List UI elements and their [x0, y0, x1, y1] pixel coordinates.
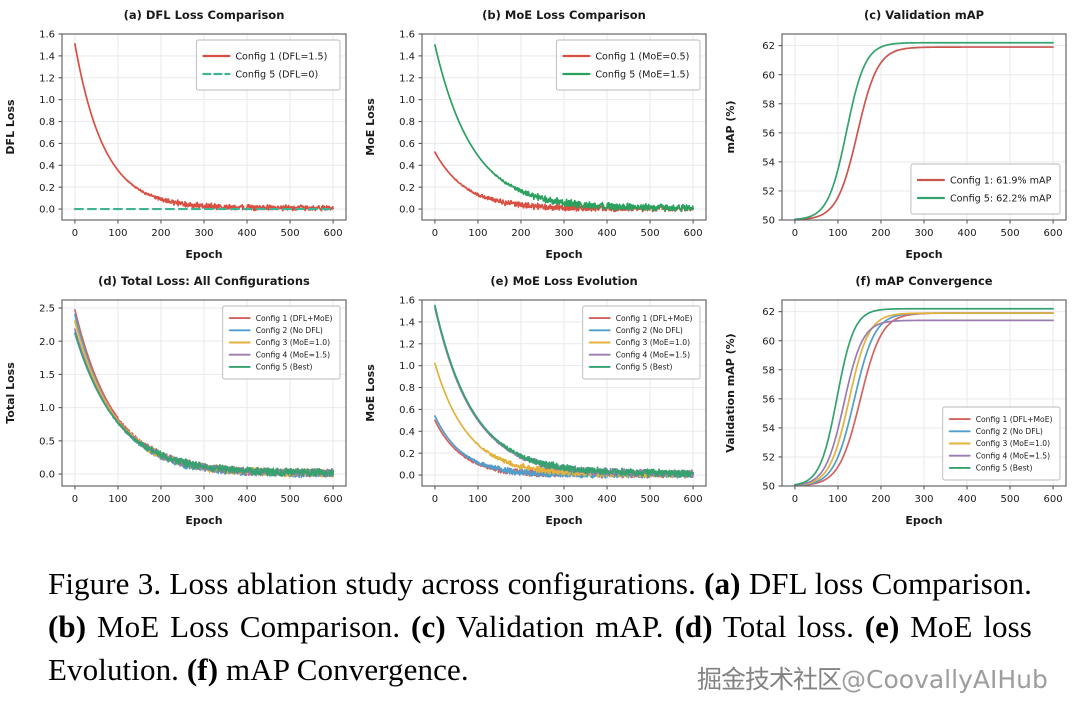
- x-tick-label: 100: [468, 494, 487, 505]
- legend-label-1: Config 1 (DFL+MoE): [256, 314, 333, 323]
- chart-title: (b) MoE Loss Comparison: [482, 8, 646, 22]
- y-tick-label: 1.6: [399, 30, 415, 41]
- chart-legend: Config 1: 61.9% mAPConfig 5: 62.2% mAP: [911, 164, 1060, 214]
- x-tick-label: 300: [554, 494, 573, 505]
- x-tick-label: 300: [554, 228, 573, 239]
- y-tick-label: 1.6: [399, 296, 415, 307]
- x-tick-label: 400: [237, 494, 256, 505]
- chart-legend: Config 1 (DFL+MoE)Config 2 (No DFL)Confi…: [943, 407, 1060, 480]
- y-axis-label: DFL Loss: [4, 99, 17, 155]
- chart-legend: Config 1 (MoE=0.5)Config 5 (MoE=1.5): [556, 40, 700, 90]
- y-axis-label: Validation mAP (%): [724, 333, 737, 452]
- legend-label-4: Config 4 (MoE=1.5): [976, 451, 1050, 460]
- caption-tag-e: (e): [865, 609, 900, 644]
- y-tick-label: 1.0: [39, 95, 55, 106]
- legend-label-3: Config 3 (MoE=1.0): [616, 338, 690, 347]
- chart-title: (f) mAP Convergence: [855, 274, 992, 288]
- x-tick-label: 600: [1044, 228, 1063, 239]
- x-tick-label: 400: [957, 494, 976, 505]
- x-tick-label: 200: [871, 494, 890, 505]
- caption-text-c: Validation mAP.: [446, 609, 675, 644]
- y-tick-label: 50: [762, 482, 775, 493]
- y-tick-label: 62: [762, 41, 775, 52]
- y-tick-label: 0.4: [399, 161, 415, 172]
- y-tick-label: 1.2: [399, 339, 415, 350]
- caption-tag-f: (f): [187, 652, 218, 687]
- legend-label-1: Config 1: 61.9% mAP: [950, 175, 1052, 186]
- x-tick-label: 200: [151, 494, 170, 505]
- x-tick-label: 300: [914, 228, 933, 239]
- legend-label-2: Config 5: 62.2% mAP: [950, 193, 1052, 204]
- x-tick-label: 400: [597, 494, 616, 505]
- x-tick-label: 500: [1001, 494, 1020, 505]
- chart-title: (c) Validation mAP: [864, 8, 984, 22]
- caption-tag-a: (a): [704, 566, 740, 601]
- y-tick-label: 60: [762, 70, 775, 81]
- y-tick-label: 52: [762, 187, 775, 198]
- y-axis-label: MoE Loss: [364, 98, 377, 156]
- panel-e-moe-loss-evolution: (e) MoE Loss Evolution010020030040050060…: [360, 266, 720, 532]
- x-tick-label: 0: [72, 228, 78, 239]
- y-tick-label: 1.4: [399, 51, 415, 62]
- y-tick-label: 1.0: [399, 95, 415, 106]
- y-tick-label: 0.8: [39, 117, 55, 128]
- chart-d: (d) Total Loss: All Configurations010020…: [0, 266, 360, 532]
- legend-label-2: Config 5 (DFL=0): [235, 69, 318, 80]
- y-tick-label: 0.0: [39, 205, 55, 216]
- panel-f-map-convergence: (f) mAP Convergence010020030040050060050…: [720, 266, 1080, 532]
- y-tick-label: 0.6: [39, 139, 55, 150]
- y-tick-label: 0.2: [399, 449, 415, 460]
- x-tick-label: 200: [151, 228, 170, 239]
- x-tick-label: 400: [237, 228, 256, 239]
- legend-label-5: Config 5 (Best): [616, 363, 673, 372]
- x-axis-label: Epoch: [545, 248, 582, 261]
- x-tick-label: 600: [1044, 494, 1063, 505]
- x-tick-label: 500: [641, 228, 660, 239]
- caption-text-f: mAP Convergence.: [218, 652, 469, 687]
- legend-label-3: Config 3 (MoE=1.0): [976, 439, 1050, 448]
- chart-legend: Config 1 (DFL=1.5)Config 5 (DFL=0): [196, 40, 340, 90]
- y-tick-label: 1.4: [39, 51, 55, 62]
- y-tick-label: 1.4: [399, 317, 415, 328]
- chart-b: (b) MoE Loss Comparison01002003004005006…: [360, 0, 720, 266]
- x-tick-label: 200: [511, 494, 530, 505]
- x-axis-label: Epoch: [185, 248, 222, 261]
- figure-root: (a) DFL Loss Comparison01002003004005006…: [0, 0, 1080, 719]
- caption-text-d: Total loss.: [713, 609, 865, 644]
- x-tick-label: 200: [511, 228, 530, 239]
- legend-label-2: Config 2 (No DFL): [256, 326, 323, 335]
- y-tick-label: 0.0: [399, 471, 415, 482]
- x-tick-label: 0: [792, 228, 798, 239]
- caption-text-a: DFL loss Comparison.: [741, 566, 1032, 601]
- x-tick-label: 100: [828, 228, 847, 239]
- chart-title: (e) MoE Loss Evolution: [490, 274, 637, 288]
- x-tick-label: 600: [684, 494, 703, 505]
- x-axis-label: Epoch: [185, 514, 222, 527]
- legend-label-4: Config 4 (MoE=1.5): [616, 350, 690, 359]
- legend-label-4: Config 4 (MoE=1.5): [256, 350, 330, 359]
- y-tick-label: 62: [762, 307, 775, 318]
- y-tick-label: 54: [762, 157, 775, 168]
- x-tick-label: 300: [194, 494, 213, 505]
- x-tick-label: 0: [432, 228, 438, 239]
- y-tick-label: 1.6: [39, 30, 55, 41]
- caption-text-b: MoE Loss Comparison.: [86, 609, 411, 644]
- x-tick-label: 100: [108, 228, 127, 239]
- y-tick-label: 1.2: [399, 73, 415, 84]
- x-tick-label: 500: [281, 494, 300, 505]
- y-tick-label: 60: [762, 336, 775, 347]
- y-axis-label: MoE Loss: [364, 364, 377, 422]
- panel-grid: (a) DFL Loss Comparison01002003004005006…: [0, 0, 1080, 540]
- chart-title: (a) DFL Loss Comparison: [124, 8, 285, 22]
- panel-a-dfl-loss-comparison: (a) DFL Loss Comparison01002003004005006…: [0, 0, 360, 266]
- y-tick-label: 0.0: [399, 205, 415, 216]
- x-tick-label: 200: [871, 228, 890, 239]
- x-tick-label: 100: [828, 494, 847, 505]
- legend-label-3: Config 3 (MoE=1.0): [256, 338, 330, 347]
- caption-tag-d: (d): [674, 609, 712, 644]
- x-tick-label: 0: [432, 494, 438, 505]
- y-tick-label: 0.0: [39, 470, 55, 481]
- y-tick-label: 1.0: [39, 403, 55, 414]
- panel-c-validation-map: (c) Validation mAP0100200300400500600505…: [720, 0, 1080, 266]
- y-tick-label: 2.0: [39, 337, 55, 348]
- y-tick-label: 52: [762, 453, 775, 464]
- x-tick-label: 500: [281, 228, 300, 239]
- caption-tag-c: (c): [411, 609, 446, 644]
- y-tick-label: 1.2: [39, 73, 55, 84]
- y-tick-label: 0.8: [399, 117, 415, 128]
- y-tick-label: 54: [762, 423, 775, 434]
- y-tick-label: 1.5: [39, 370, 55, 381]
- y-tick-label: 0.5: [39, 436, 55, 447]
- y-tick-label: 0.2: [399, 183, 415, 194]
- x-tick-label: 500: [1001, 228, 1020, 239]
- y-tick-label: 56: [762, 128, 775, 139]
- y-tick-label: 58: [762, 99, 775, 110]
- y-tick-label: 58: [762, 365, 775, 376]
- x-tick-label: 100: [108, 494, 127, 505]
- y-tick-label: 2.5: [39, 304, 55, 315]
- chart-legend: Config 1 (DFL+MoE)Config 2 (No DFL)Confi…: [583, 306, 700, 379]
- panel-b-moe-loss-comparison: (b) MoE Loss Comparison01002003004005006…: [360, 0, 720, 266]
- chart-e: (e) MoE Loss Evolution010020030040050060…: [360, 266, 720, 532]
- legend-label-1: Config 1 (MoE=0.5): [595, 51, 689, 62]
- y-tick-label: 0.2: [39, 183, 55, 194]
- legend-label-2: Config 2 (No DFL): [616, 326, 683, 335]
- x-tick-label: 0: [72, 494, 78, 505]
- legend-label-1: Config 1 (DFL+MoE): [976, 415, 1053, 424]
- y-axis-label: Total Loss: [4, 362, 17, 424]
- legend-label-2: Config 2 (No DFL): [976, 427, 1043, 436]
- y-tick-label: 0.8: [399, 383, 415, 394]
- legend-label-1: Config 1 (DFL=1.5): [235, 51, 327, 62]
- chart-a: (a) DFL Loss Comparison01002003004005006…: [0, 0, 360, 266]
- legend-label-5: Config 5 (Best): [976, 464, 1033, 473]
- y-tick-label: 56: [762, 394, 775, 405]
- x-tick-label: 300: [194, 228, 213, 239]
- x-axis-label: Epoch: [545, 514, 582, 527]
- x-tick-label: 600: [684, 228, 703, 239]
- caption-tag-b: (b): [48, 609, 86, 644]
- panel-d-total-loss-all-configurations: (d) Total Loss: All Configurations010020…: [0, 266, 360, 532]
- y-tick-label: 1.0: [399, 361, 415, 372]
- x-axis-label: Epoch: [905, 248, 942, 261]
- x-tick-label: 600: [324, 494, 343, 505]
- chart-c: (c) Validation mAP0100200300400500600505…: [720, 0, 1080, 266]
- x-tick-label: 0: [792, 494, 798, 505]
- x-axis-label: Epoch: [905, 514, 942, 527]
- x-tick-label: 100: [468, 228, 487, 239]
- x-tick-label: 500: [641, 494, 660, 505]
- y-tick-label: 0.4: [399, 427, 415, 438]
- y-tick-label: 50: [762, 216, 775, 227]
- legend-label-5: Config 5 (Best): [256, 363, 313, 372]
- x-tick-label: 400: [957, 228, 976, 239]
- legend-label-1: Config 1 (DFL+MoE): [616, 314, 693, 323]
- figure-caption: Figure 3. Loss ablation study across con…: [48, 562, 1032, 691]
- x-tick-label: 300: [914, 494, 933, 505]
- legend-label-2: Config 5 (MoE=1.5): [595, 69, 689, 80]
- chart-title: (d) Total Loss: All Configurations: [98, 274, 310, 288]
- chart-f: (f) mAP Convergence010020030040050060050…: [720, 266, 1080, 532]
- y-tick-label: 0.4: [39, 161, 55, 172]
- y-tick-label: 0.6: [399, 139, 415, 150]
- x-tick-label: 600: [324, 228, 343, 239]
- y-tick-label: 0.6: [399, 405, 415, 416]
- y-axis-label: mAP (%): [724, 101, 737, 154]
- chart-legend: Config 1 (DFL+MoE)Config 2 (No DFL)Confi…: [223, 306, 340, 379]
- x-tick-label: 400: [597, 228, 616, 239]
